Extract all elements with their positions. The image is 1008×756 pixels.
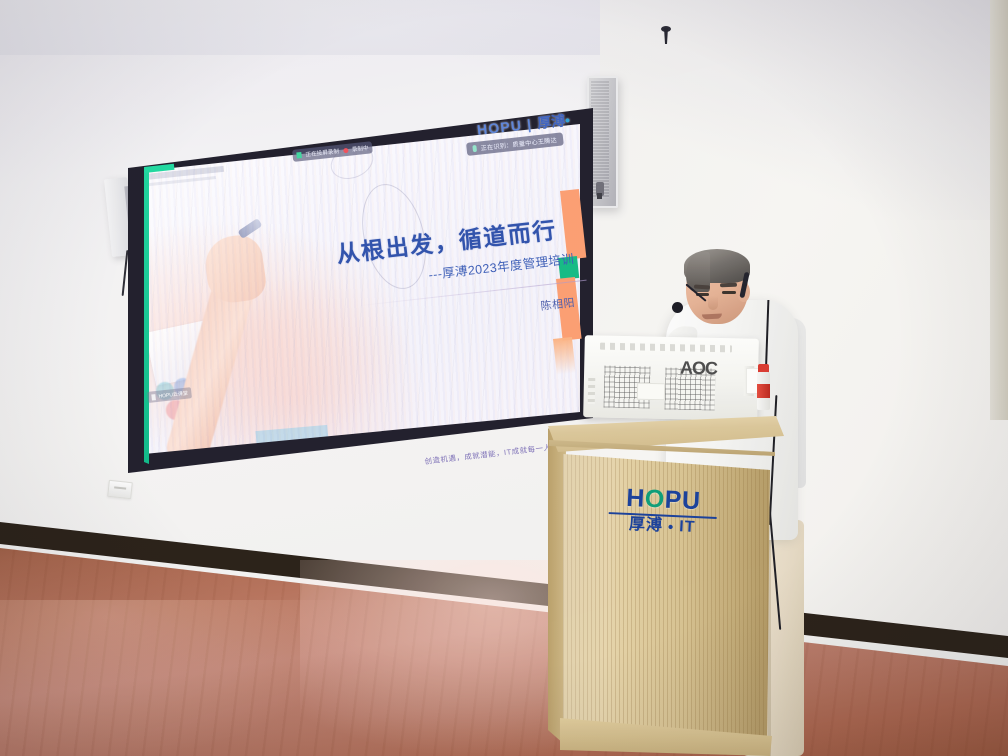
conference-room-scene: HOPU | 厚溥• 正在投屏录制 录制中 正在识别：质量中心王腾达 HOPU云… xyxy=(0,0,1008,756)
microphone-icon xyxy=(472,145,477,152)
monitor-buttons[interactable] xyxy=(588,378,596,404)
slide-logo-cn: 厚溥 xyxy=(536,112,566,131)
podium-logo-latin: HOPU xyxy=(607,485,720,515)
power-outlet-icon[interactable] xyxy=(107,480,133,499)
bottle-label xyxy=(757,384,770,398)
record-pill-label: 录制中 xyxy=(351,144,369,154)
slide-accent-fade xyxy=(553,337,576,375)
presenter-eyebrow-right xyxy=(720,283,737,288)
speaker-bolt xyxy=(597,193,602,199)
monitor-spec-sticker xyxy=(637,383,665,401)
record-icon xyxy=(343,147,349,153)
watermark-text: HOPU云课堂 xyxy=(158,390,188,400)
podium-logo-cn: 厚溥 xyxy=(629,517,664,535)
signal-bars-icon xyxy=(296,152,302,159)
presenter-nose xyxy=(708,296,718,310)
speaker-grille xyxy=(591,80,609,198)
presenter-eye-right xyxy=(722,291,736,294)
headset-microphone-icon xyxy=(672,302,683,313)
podium-brand-logo: HOPU 厚溥 • IT xyxy=(606,485,720,537)
podium-logo-separator: • xyxy=(668,519,675,534)
wall-corner xyxy=(990,0,1008,420)
record-pill-text: 正在投屏录制 xyxy=(305,147,339,159)
slide-left-accent-bar xyxy=(144,168,149,464)
monitor-brand-label: AOC xyxy=(680,358,717,380)
slide-logo-divider: | xyxy=(526,116,533,132)
podium-logo-suffix: IT xyxy=(679,519,696,536)
slide-logo-latin: HOPU xyxy=(476,117,523,138)
app-icon xyxy=(151,394,156,400)
podium-logo-o: O xyxy=(644,485,665,514)
slide-logo-dot: • xyxy=(564,112,572,129)
